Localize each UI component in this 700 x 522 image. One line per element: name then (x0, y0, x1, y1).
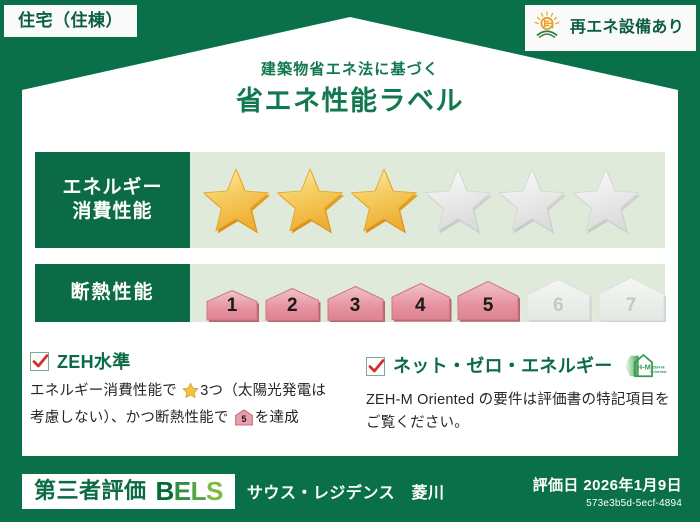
insulation-performance-row: 断熱性能 1234567 (35, 264, 665, 322)
building-type-tag: 住宅（住棟） (4, 5, 137, 37)
energy-label-line1: エネルギー (62, 176, 162, 200)
zeh-standard-block: ZEH水準 エネルギー消費性能で 3つ（太陽光発電は考慮しない）、かつ断熱性能で… (30, 352, 350, 436)
insulation-level-6: 6 (524, 277, 593, 322)
netzero-description: ZEH-M Oriented の要件は評価書の特記項目をご覧ください。 (366, 389, 670, 436)
insulation-level-3: 3 (325, 284, 386, 322)
star-filled-icon (274, 165, 346, 235)
insulation-level-1: 1 (204, 288, 260, 322)
energy-performance-label: エネルギー 消費性能 (35, 152, 190, 248)
star-empty-icon (496, 165, 568, 235)
bels-letter: E (174, 476, 191, 506)
insulation-level-5: 5 (455, 279, 521, 322)
evaluation-date-label: 評価日 (533, 477, 579, 494)
insulation-level-number: 2 (263, 296, 322, 315)
energy-performance-row: エネルギー 消費性能 (35, 152, 665, 248)
zeh-checkbox (30, 352, 49, 371)
zeh-heading: ZEH水準 (57, 353, 131, 371)
netzero-checkbox (366, 357, 385, 376)
insulation-level-number: 5 (455, 296, 521, 315)
zeh-description-part3: を達成 (255, 410, 299, 426)
insulation-level-scale: 1234567 (190, 264, 667, 322)
energy-label-line2: 消費性能 (72, 200, 152, 224)
footer-bar: 第三者評価 BELS サウス・レジデンス 菱川 評価日 2026年1月9日 57… (0, 460, 700, 522)
energy-label-card: 住宅（住棟） 再エネ設備あり (0, 0, 700, 522)
insulation-level-number: 3 (325, 296, 386, 315)
insulation-level-number: 4 (389, 296, 453, 315)
insulation-level-4: 4 (389, 281, 453, 322)
bels-letter: B (156, 476, 174, 506)
evaluation-id: 573e3b5d-5ecf-4894 (533, 498, 682, 509)
insulation-level-2: 2 (263, 286, 322, 322)
solar-energy-icon (533, 11, 563, 44)
zeh-m-oriented-logo: H-M ZEH-M Oriented (623, 352, 667, 380)
zeh-heading-row: ZEH水準 (30, 352, 336, 371)
title-block: 建築物省エネ法に基づく 省エネ性能ラベル (0, 62, 700, 116)
evaluation-date-value: 2026年1月9日 (583, 477, 682, 494)
insulation-level-number: 1 (204, 296, 260, 315)
info-columns: ZEH水準 エネルギー消費性能で 3つ（太陽光発電は考慮しない）、かつ断熱性能で… (30, 352, 670, 436)
star-empty-icon (422, 165, 494, 235)
house-level-5-icon: 5 (230, 414, 254, 430)
property-name: サウス・レジデンス 菱川 (247, 479, 445, 503)
bels-letter: S (206, 476, 223, 506)
insulation-label-text: 断熱性能 (70, 281, 154, 305)
label-subtitle: 建築物省エネ法に基づく (0, 62, 700, 79)
star-filled-icon (200, 165, 272, 235)
insulation-level-number: 7 (596, 296, 667, 315)
insulation-level-7: 7 (596, 275, 667, 322)
renewable-energy-badge: 再エネ設備あり (525, 5, 696, 51)
bels-plate: 第三者評価 BELS (22, 474, 235, 509)
insulation-performance-label: 断熱性能 (35, 264, 190, 322)
star-empty-icon (570, 165, 642, 235)
bels-logo: BELS (156, 478, 223, 504)
evaluation-date: 評価日 2026年1月9日 (533, 474, 682, 495)
star-icon (178, 387, 199, 403)
third-party-label: 第三者評価 (34, 480, 147, 502)
svg-text:5: 5 (241, 415, 246, 425)
building-type-label: 住宅（住棟） (18, 11, 123, 30)
renewable-energy-label: 再エネ設備あり (570, 20, 684, 36)
insulation-level-number: 6 (524, 296, 593, 315)
star-filled-icon (348, 165, 420, 235)
zeh-description: エネルギー消費性能で 3つ（太陽光発電は考慮しない）、かつ断熱性能で 5 を達成 (30, 380, 336, 435)
zeh-description-part1: エネルギー消費性能で (30, 383, 177, 399)
evaluation-info: 評価日 2026年1月9日 573e3b5d-5ecf-4894 (533, 474, 682, 509)
netzero-heading: ネット・ゼロ・エネルギー (393, 357, 613, 375)
netzero-heading-row: ネット・ゼロ・エネルギー H-M ZEH-M (366, 352, 670, 380)
page-title: 省エネ性能ラベル (0, 87, 700, 117)
star-rating (190, 152, 665, 248)
svg-text:H-M: H-M (636, 363, 650, 372)
net-zero-energy-block: ネット・ゼロ・エネルギー H-M ZEH-M (350, 352, 670, 436)
svg-text:Oriented: Oriented (650, 369, 667, 374)
bels-letter: L (191, 476, 206, 506)
